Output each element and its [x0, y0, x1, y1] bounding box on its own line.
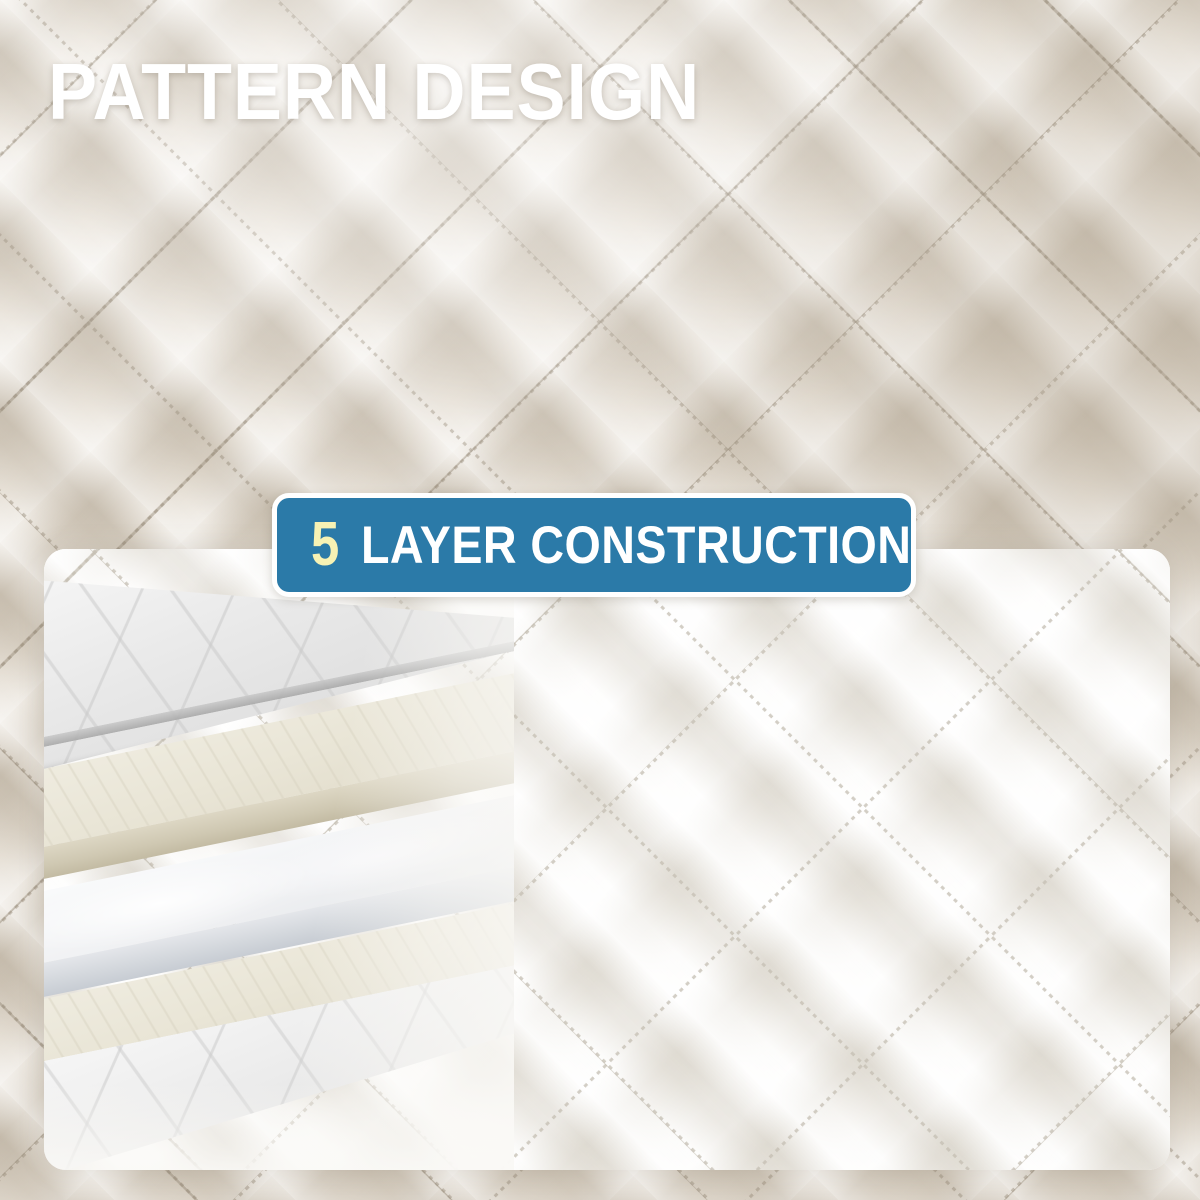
layer-construction-banner: 5 LAYER CONSTRUCTION [272, 493, 916, 597]
layer-stack-illustration [44, 549, 514, 1170]
product-infographic: PATTERN DESIGN [0, 0, 1200, 1200]
banner-layer-count: 5 [311, 514, 339, 576]
page-title: PATTERN DESIGN [48, 52, 700, 132]
content-card-panel: 1 Water repellent quality microfiber fab… [44, 549, 1170, 1170]
banner-label: LAYER CONSTRUCTION [361, 519, 911, 572]
illustration-layer-5-bottom-quilted-sheet [44, 1069, 514, 1170]
